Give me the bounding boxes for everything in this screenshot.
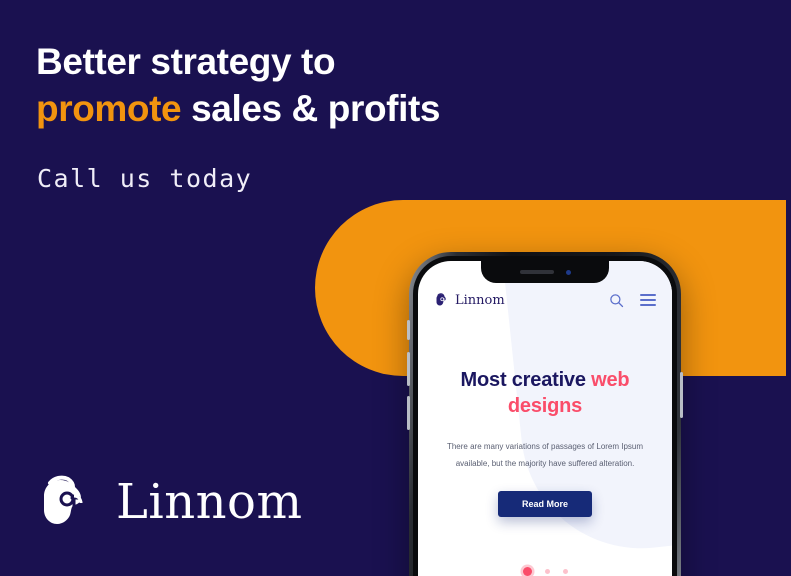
app-hero-section: Most creative web designs There are many… xyxy=(418,367,672,517)
hamburger-menu-icon[interactable] xyxy=(640,294,656,306)
app-logo[interactable]: Linnom xyxy=(434,291,505,309)
linnom-bird-mark-icon xyxy=(434,291,452,309)
carousel-dot-3[interactable] xyxy=(563,569,568,574)
app-hero-title: Most creative web designs xyxy=(432,367,658,419)
phone-mockup: Linnom Most creative web designs There a… xyxy=(409,252,681,576)
subheadline-text: Call us today xyxy=(37,164,252,193)
volume-up-button[interactable] xyxy=(407,352,410,386)
headline-block: Better strategy to promote sales & profi… xyxy=(36,38,556,133)
headline-line-2: promote sales & profits xyxy=(36,85,556,132)
menu-bar-2 xyxy=(640,299,656,301)
carousel-dot-2[interactable] xyxy=(545,569,550,574)
promo-banner: Better strategy to promote sales & profi… xyxy=(0,0,791,576)
app-hero-description: There are many variations of passages of… xyxy=(432,439,658,473)
front-camera-icon xyxy=(566,270,571,275)
carousel-dots xyxy=(418,569,672,576)
brand-logo: Linnom xyxy=(34,466,302,538)
power-button[interactable] xyxy=(680,372,683,418)
read-more-button[interactable]: Read More xyxy=(498,491,592,517)
app-logo-text: Linnom xyxy=(455,294,505,307)
headline-line-2-rest: sales & profits xyxy=(181,88,440,129)
volume-down-button[interactable] xyxy=(407,396,410,430)
carousel-dot-1[interactable] xyxy=(523,567,532,576)
headline-line-1: Better strategy to xyxy=(36,38,556,85)
brand-name-text: Linnom xyxy=(116,478,302,526)
phone-screen: Linnom Most creative web designs There a… xyxy=(418,261,672,576)
mute-switch-button[interactable] xyxy=(407,320,410,340)
linnom-bird-mark-icon xyxy=(34,466,106,538)
right-edge-strip xyxy=(786,0,791,576)
speaker-grille-icon xyxy=(520,270,554,274)
app-header: Linnom xyxy=(418,283,672,317)
phone-notch xyxy=(481,261,609,283)
menu-bar-3 xyxy=(640,304,656,306)
headline-accent-word: promote xyxy=(36,88,181,129)
search-icon[interactable] xyxy=(609,293,624,308)
app-hero-title-main: Most creative xyxy=(461,369,592,391)
menu-bar-1 xyxy=(640,294,656,296)
